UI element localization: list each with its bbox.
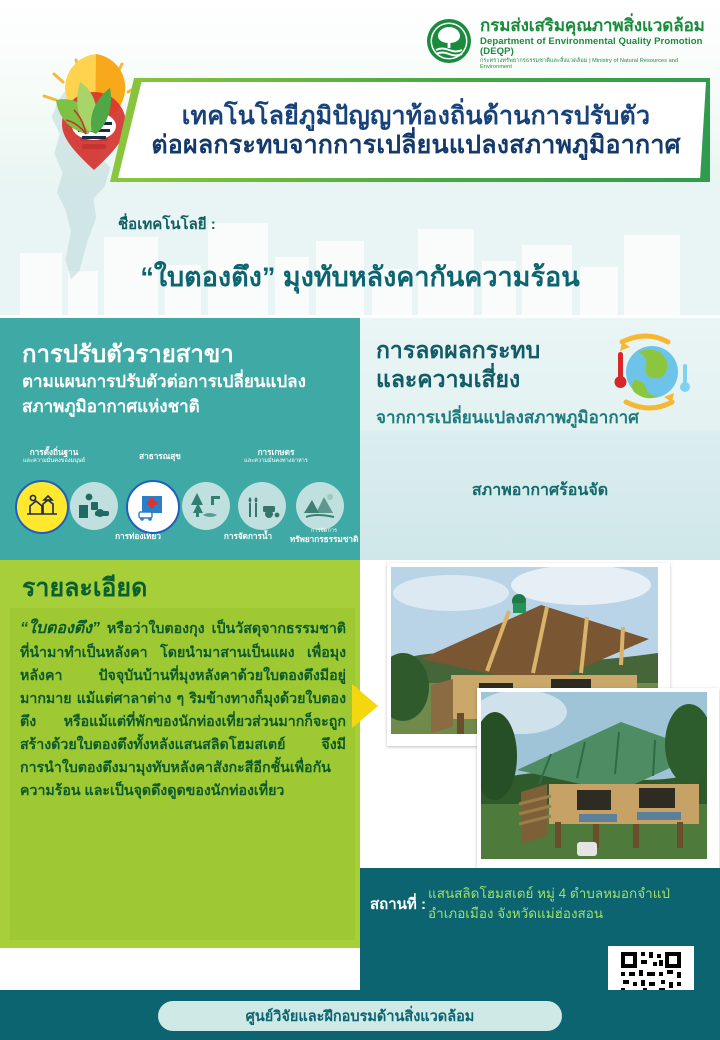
sector-label-agriculture: การเกษตร และความมั่นคงทางอาหาร <box>228 448 324 465</box>
organization-logo: กรมส่งเสริมคุณภาพสิ่งแวดล้อม Department … <box>426 16 708 72</box>
yellow-arrow-right-icon <box>352 684 378 728</box>
adaptation-subheading: ตามแผนการปรับตัวต่อการเปลี่ยนแปลง สภาพภู… <box>22 370 352 419</box>
details-body-text: หรือว่าใบตองกุง เป็นวัสดุจากธรรมชาติที่น… <box>20 621 346 799</box>
sector-icon-natural-resources[interactable] <box>296 482 344 530</box>
sector-icon-settlement[interactable] <box>15 480 69 534</box>
impact-heading-line1: การลดผลกระทบ <box>376 336 606 365</box>
title-line-2: ต่อผลกระทบจากการเปลี่ยนแปลงสภาพภูมิอากาศ <box>151 131 680 161</box>
details-highlight-term: “ใบตองตึง” <box>20 620 100 637</box>
sector-icon-tourism[interactable] <box>70 482 118 530</box>
footer-pill: ศูนย์วิจัยและฝึกอบรมด้านสิ่งแวดล้อม <box>158 1001 562 1031</box>
globe-thermometer-icon <box>598 330 694 416</box>
sector-label-water: การจัดการน้ำ <box>208 532 288 542</box>
adaptation-heading: การปรับตัวรายสาขา <box>22 334 234 373</box>
footer-text: ศูนย์วิจัยและฝึกอบรมด้านสิ่งแวดล้อม <box>246 1005 475 1028</box>
location-line-2: อำเภอเมือง จังหวัดแม่ฮ่องสอน <box>428 904 708 924</box>
impact-heading-line2: และความเสี่ยง <box>376 365 606 394</box>
sector-icon-water[interactable] <box>182 482 230 530</box>
technology-label: ชื่อเทคโนโลยี : <box>118 212 216 236</box>
poster-root: เทคโนโลยีภูมิปัญญาท้องถิ่นด้านการปรับตัว… <box>0 0 720 1040</box>
location-label: สถานที่ : <box>370 892 426 916</box>
technology-name: “ใบตองตึง” มุงทับหลังคากันความร้อน <box>0 255 720 298</box>
sector-label-tourism: การท่องเที่ยว <box>98 532 178 542</box>
adaptation-subheading-line2: สภาพภูมิอากาศแห่งชาติ <box>22 395 352 420</box>
impact-heading: การลดผลกระทบ และความเสี่ยง <box>376 336 606 394</box>
title-line-1: เทคโนโลยีภูมิปัญญาท้องถิ่นด้านการปรับตัว <box>182 102 650 132</box>
photo-green-metal-roof-house <box>477 688 719 871</box>
sector-icon-health[interactable] <box>126 480 180 534</box>
location-line-1: แสนสลิดโฮมสเตย์ หมู่ 4 ตำบลหมอกจำแป่ <box>428 884 708 904</box>
deqp-tree-logo-icon <box>426 18 472 64</box>
location-value: แสนสลิดโฮมสเตย์ หมู่ 4 ตำบลหมอกจำแป่ อำเ… <box>428 884 708 925</box>
org-name-en: Department of Environmental Quality Prom… <box>480 37 708 57</box>
sector-label-health: สาธารณสุข <box>120 452 200 462</box>
details-body: “ใบตองตึง” หรือว่าใบตองกุง เป็นวัสดุจากธ… <box>20 616 346 803</box>
details-heading: รายละเอียด <box>22 568 147 608</box>
ministry-line: กระทรวงทรัพยากรธรรมชาติและสิ่งแวดล้อม | … <box>480 59 708 71</box>
sector-icon-row: การตั้งถิ่นฐาน และความมั่นคงของมนุษย์ กา… <box>0 448 360 556</box>
org-name-th: กรมส่งเสริมคุณภาพสิ่งแวดล้อม <box>480 17 708 35</box>
page-title: เทคโนโลยีภูมิปัญญาท้องถิ่นด้านการปรับตัว… <box>128 86 704 176</box>
sector-label-settlement: การตั้งถิ่นฐาน และความมั่นคงของมนุษย์ <box>6 448 102 465</box>
sector-label-natural-resources: การจัดการ ทรัพยากรธรรมชาติ <box>288 528 360 545</box>
impact-item-extreme-heat: สภาพอากาศร้อนจัด <box>360 478 720 503</box>
adaptation-subheading-line1: ตามแผนการปรับตัวต่อการเปลี่ยนแปลง <box>22 370 352 395</box>
sector-icon-agriculture[interactable] <box>238 482 286 530</box>
